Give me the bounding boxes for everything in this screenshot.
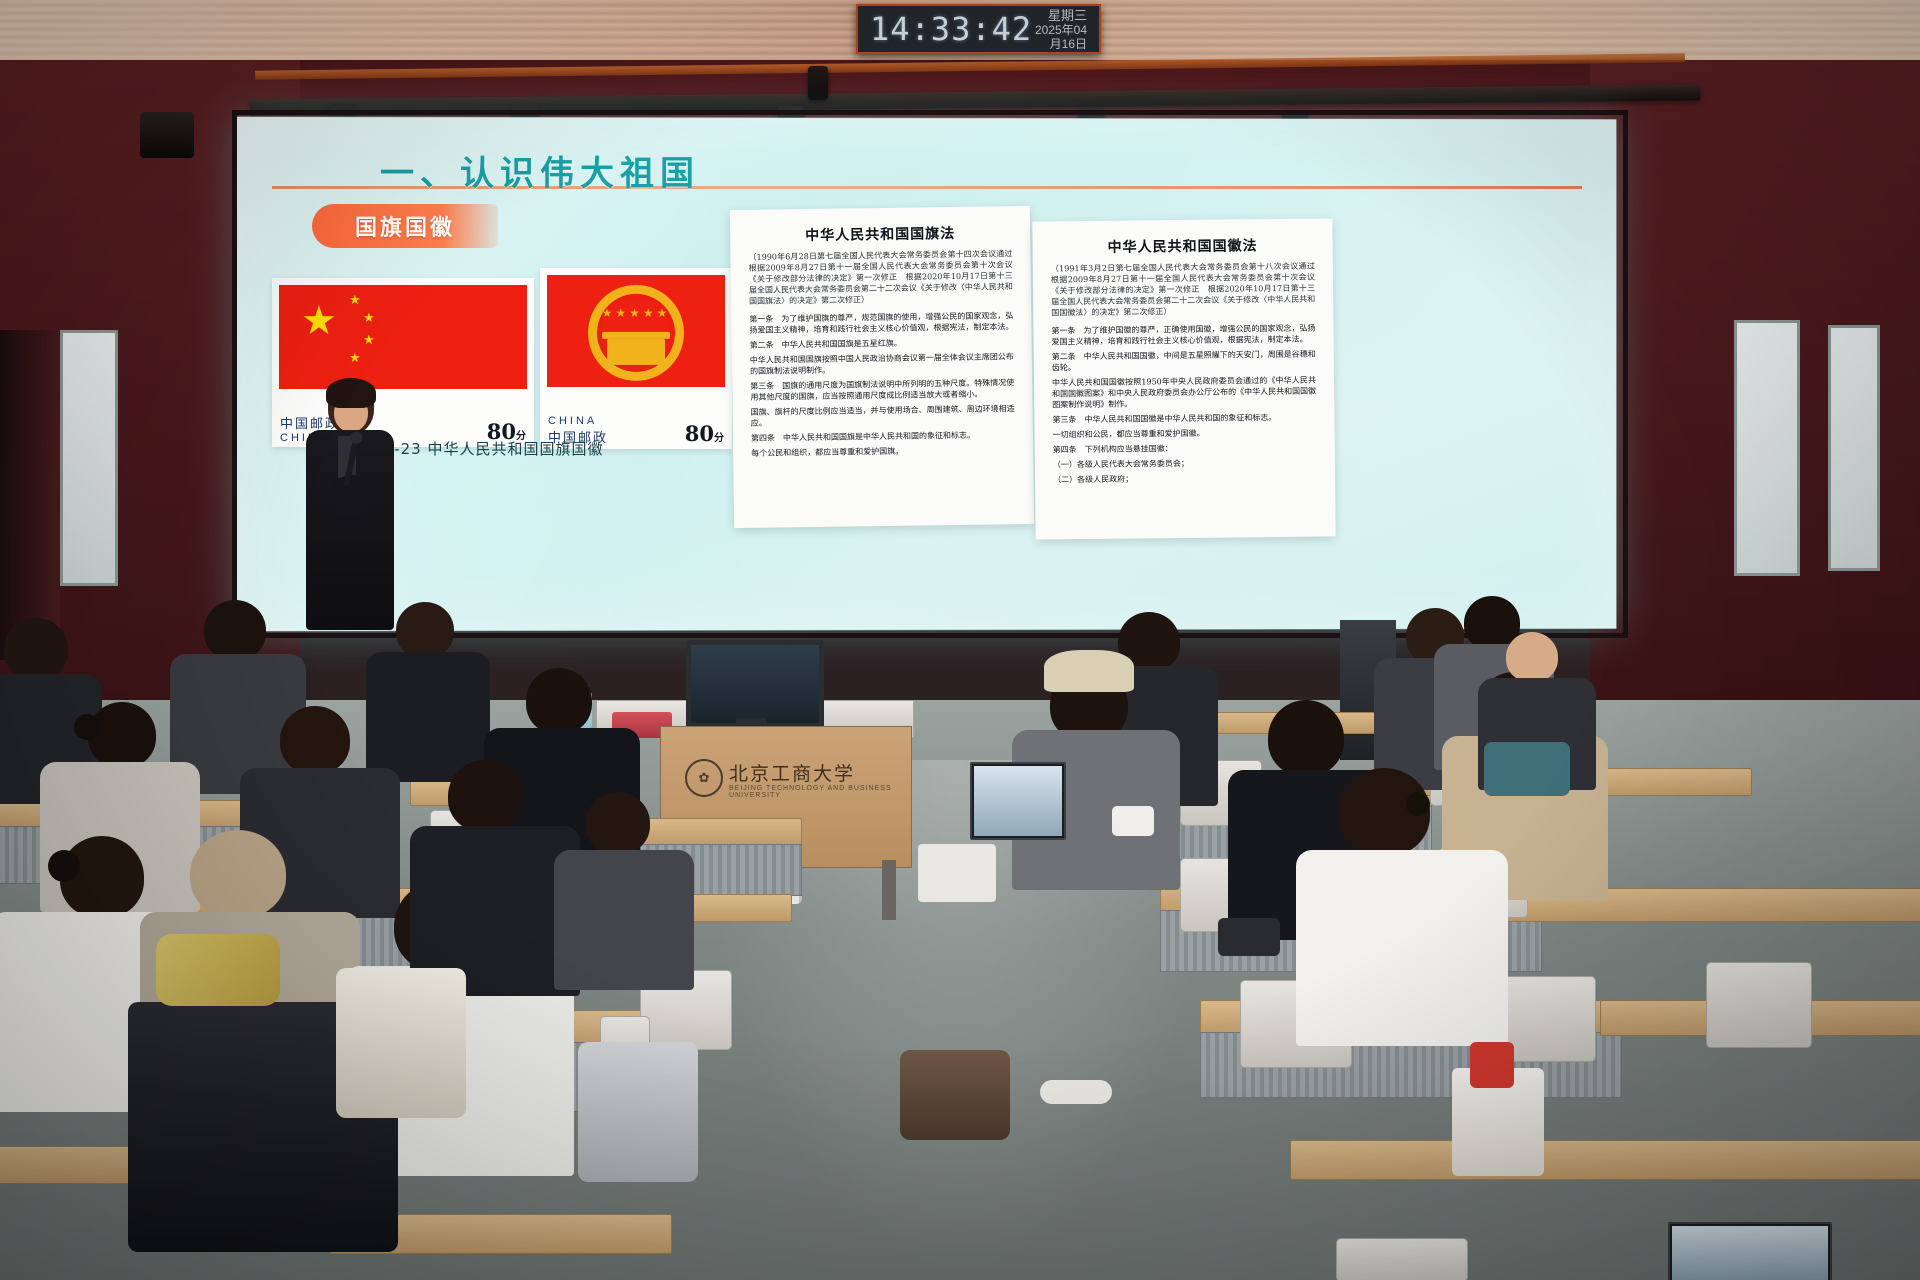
student-hair-bun (48, 850, 80, 882)
emblem-law-meta: （1991年3月2日第七届全国人民代表大会常务委员会第十八次会议通过 根据200… (1051, 261, 1316, 319)
emblem-stamp-value: 80分 (685, 421, 724, 446)
university-emblem-icon: ✿ (685, 759, 723, 797)
china-emblem-image: ★★★★★ (547, 275, 725, 387)
cup-white (1112, 806, 1154, 836)
window-right-1 (1734, 320, 1800, 576)
flag-law-article: 第四条 中华人民共和国国旗是中华人民共和国的象征和标志。 (751, 429, 1015, 444)
emblem-tiananmen (607, 339, 665, 365)
student-desk (1290, 1140, 1920, 1180)
student-desk (640, 818, 802, 846)
chair (1706, 962, 1812, 1048)
student-head (586, 792, 650, 854)
flag-star-3: ★ (363, 333, 375, 346)
door-frame (0, 330, 60, 660)
student-hair-bun (74, 714, 100, 740)
pencil-case (1218, 918, 1280, 956)
student-torso (1296, 850, 1508, 1046)
lectern-leg-right (882, 860, 896, 920)
backpack-gray (578, 1042, 698, 1182)
straw-hat (156, 934, 280, 1006)
flag-law-article: 每个公民和组织，都应当尊重和爱护国旗。 (751, 444, 1015, 459)
window-right-2 (1828, 325, 1880, 571)
tote-bag-white (336, 968, 466, 1118)
flag-law-article: 中华人民共和国国旗按照中国人民政治协商会议第一届全体会议主席团公布的国旗制法说明… (750, 351, 1014, 377)
emblem-wreath: ★★★★★ (588, 285, 684, 381)
handbag-brown (900, 1050, 1010, 1140)
slide-section-badge-label: 国旗国徽 (355, 210, 455, 242)
student-head (396, 602, 454, 658)
flag-law-article: 第二条 中华人民共和国国旗是五星红旗。 (750, 336, 1014, 351)
teacher-monitor (686, 640, 824, 728)
flag-law-article: 第一条 为了维护国旗的尊严，规范国旗的使用，增强公民的国家观念，弘扬爱国主义精神… (749, 310, 1013, 336)
presenter-speaker (300, 380, 396, 630)
emblem-law-article: 第三条 中华人民共和国国徽是中华人民共和国的象征和标志。 (1052, 412, 1316, 426)
paper-sheet (918, 844, 996, 902)
emblem-stamp-issuer-en: CHINA (548, 415, 608, 427)
laptop-screen (974, 766, 1062, 836)
emblem-law-article: 中华人民共和国国徽按照1950年中央人民政府委员会通过的《中华人民共和国国徽图案… (1052, 375, 1316, 411)
emblem-law-article: 第二条 中华人民共和国国徽，中间是五星照耀下的天安门，周围是谷穗和齿轮。 (1052, 349, 1316, 374)
laptop-open (970, 762, 1066, 840)
laptop-foreground (1668, 1222, 1832, 1280)
baseball-cap (1044, 650, 1134, 692)
national-emblem-stamp: ★★★★★ CHINA 中国邮政 80分 (540, 268, 732, 449)
flag-law-document: 中华人民共和国国旗法 （1990年6月28日第七届全国人民代表大会常务委员会第十… (730, 206, 1034, 528)
student-torso (554, 850, 694, 990)
emblem-law-article: 第四条 下列机构应当悬挂国徽： (1053, 442, 1317, 456)
student-head (1506, 632, 1558, 682)
chair (1336, 1238, 1468, 1280)
window-left (60, 330, 118, 586)
student-head (1268, 700, 1344, 776)
slide-title: 一、认识伟大祖国 (380, 146, 700, 195)
bag-teal (1484, 742, 1570, 796)
presenter-hair (326, 378, 376, 408)
monitor-screen (691, 645, 819, 723)
flag-law-meta: （1990年6月28日第七届全国人民代表大会常务委员会第十四次会议通过 根据20… (748, 248, 1013, 307)
clock-weekday: 星期三 (1032, 8, 1087, 23)
student-head (448, 760, 522, 832)
emblem-law-document: 中华人民共和国国徽法 （1991年3月2日第七届全国人民代表大会常务委员会第十八… (1032, 218, 1335, 539)
clock-date: 2025年04月16日 (1032, 23, 1087, 51)
flag-star-2: ★ (363, 311, 375, 324)
student-head (4, 618, 68, 680)
university-name: 北京工商大学 (729, 759, 855, 786)
emblem-stamp-value-number: 80 (685, 421, 714, 446)
china-flag-image: ★ ★ ★ ★ ★ (279, 285, 527, 389)
emblem-law-article: （二）各级人民政府； (1053, 472, 1317, 486)
emblem-law-title: 中华人民共和国国徽法 (1051, 235, 1315, 258)
slide-section-badge: 国旗国徽 (312, 204, 498, 248)
emblem-stamp-value-unit: 分 (714, 433, 724, 444)
flag-star-1: ★ (349, 293, 361, 306)
emblem-law-article: 一切组织和公民，都应当尊重和爱护国徽。 (1053, 427, 1317, 441)
emblem-law-article: 第一条 为了维护国徽的尊严，正确使用国徽，增强公民的国家观念，弘扬爱国主义精神，… (1051, 323, 1315, 348)
clock-time: 14:33:42 (870, 10, 1032, 48)
student-head (88, 702, 156, 768)
flag-law-title: 中华人民共和国国旗法 (748, 222, 1012, 246)
flag-law-article: 国旗、旗杆的尺度比例应当适当，并与使用场合、周围建筑、周边环境相适应。 (751, 403, 1015, 429)
student-hair-tie (1406, 792, 1430, 816)
hairbrush (1040, 1080, 1112, 1104)
speaker-left (140, 112, 194, 158)
flag-law-article: 第三条 国旗的通用尺度为国旗制法说明中所列明的五种尺度。特殊情况使用其他尺度的国… (750, 377, 1014, 403)
projector-camera (808, 66, 828, 100)
laptop-screen (1672, 1226, 1828, 1280)
digital-clock: 14:33:42 星期三 2025年04月16日 (856, 4, 1101, 54)
student-head (526, 668, 592, 734)
drink-cup (1470, 1042, 1514, 1088)
flag-star-4: ★ (349, 351, 361, 364)
flag-star-large: ★ (301, 301, 337, 341)
student-desk (690, 894, 792, 922)
student-head (190, 830, 286, 918)
classroom-photo: 14:33:42 星期三 2025年04月16日 一、认识伟大祖国 国旗国徽 ★… (0, 0, 1920, 1280)
student-head (280, 706, 350, 774)
student-head (204, 600, 266, 660)
emblem-law-article: （一）各级人民代表大会常务委员会； (1053, 457, 1317, 471)
university-name-en: BEIJING TECHNOLOGY AND BUSINESS UNIVERSI… (729, 785, 911, 799)
emblem-stars: ★★★★★ (602, 306, 671, 320)
